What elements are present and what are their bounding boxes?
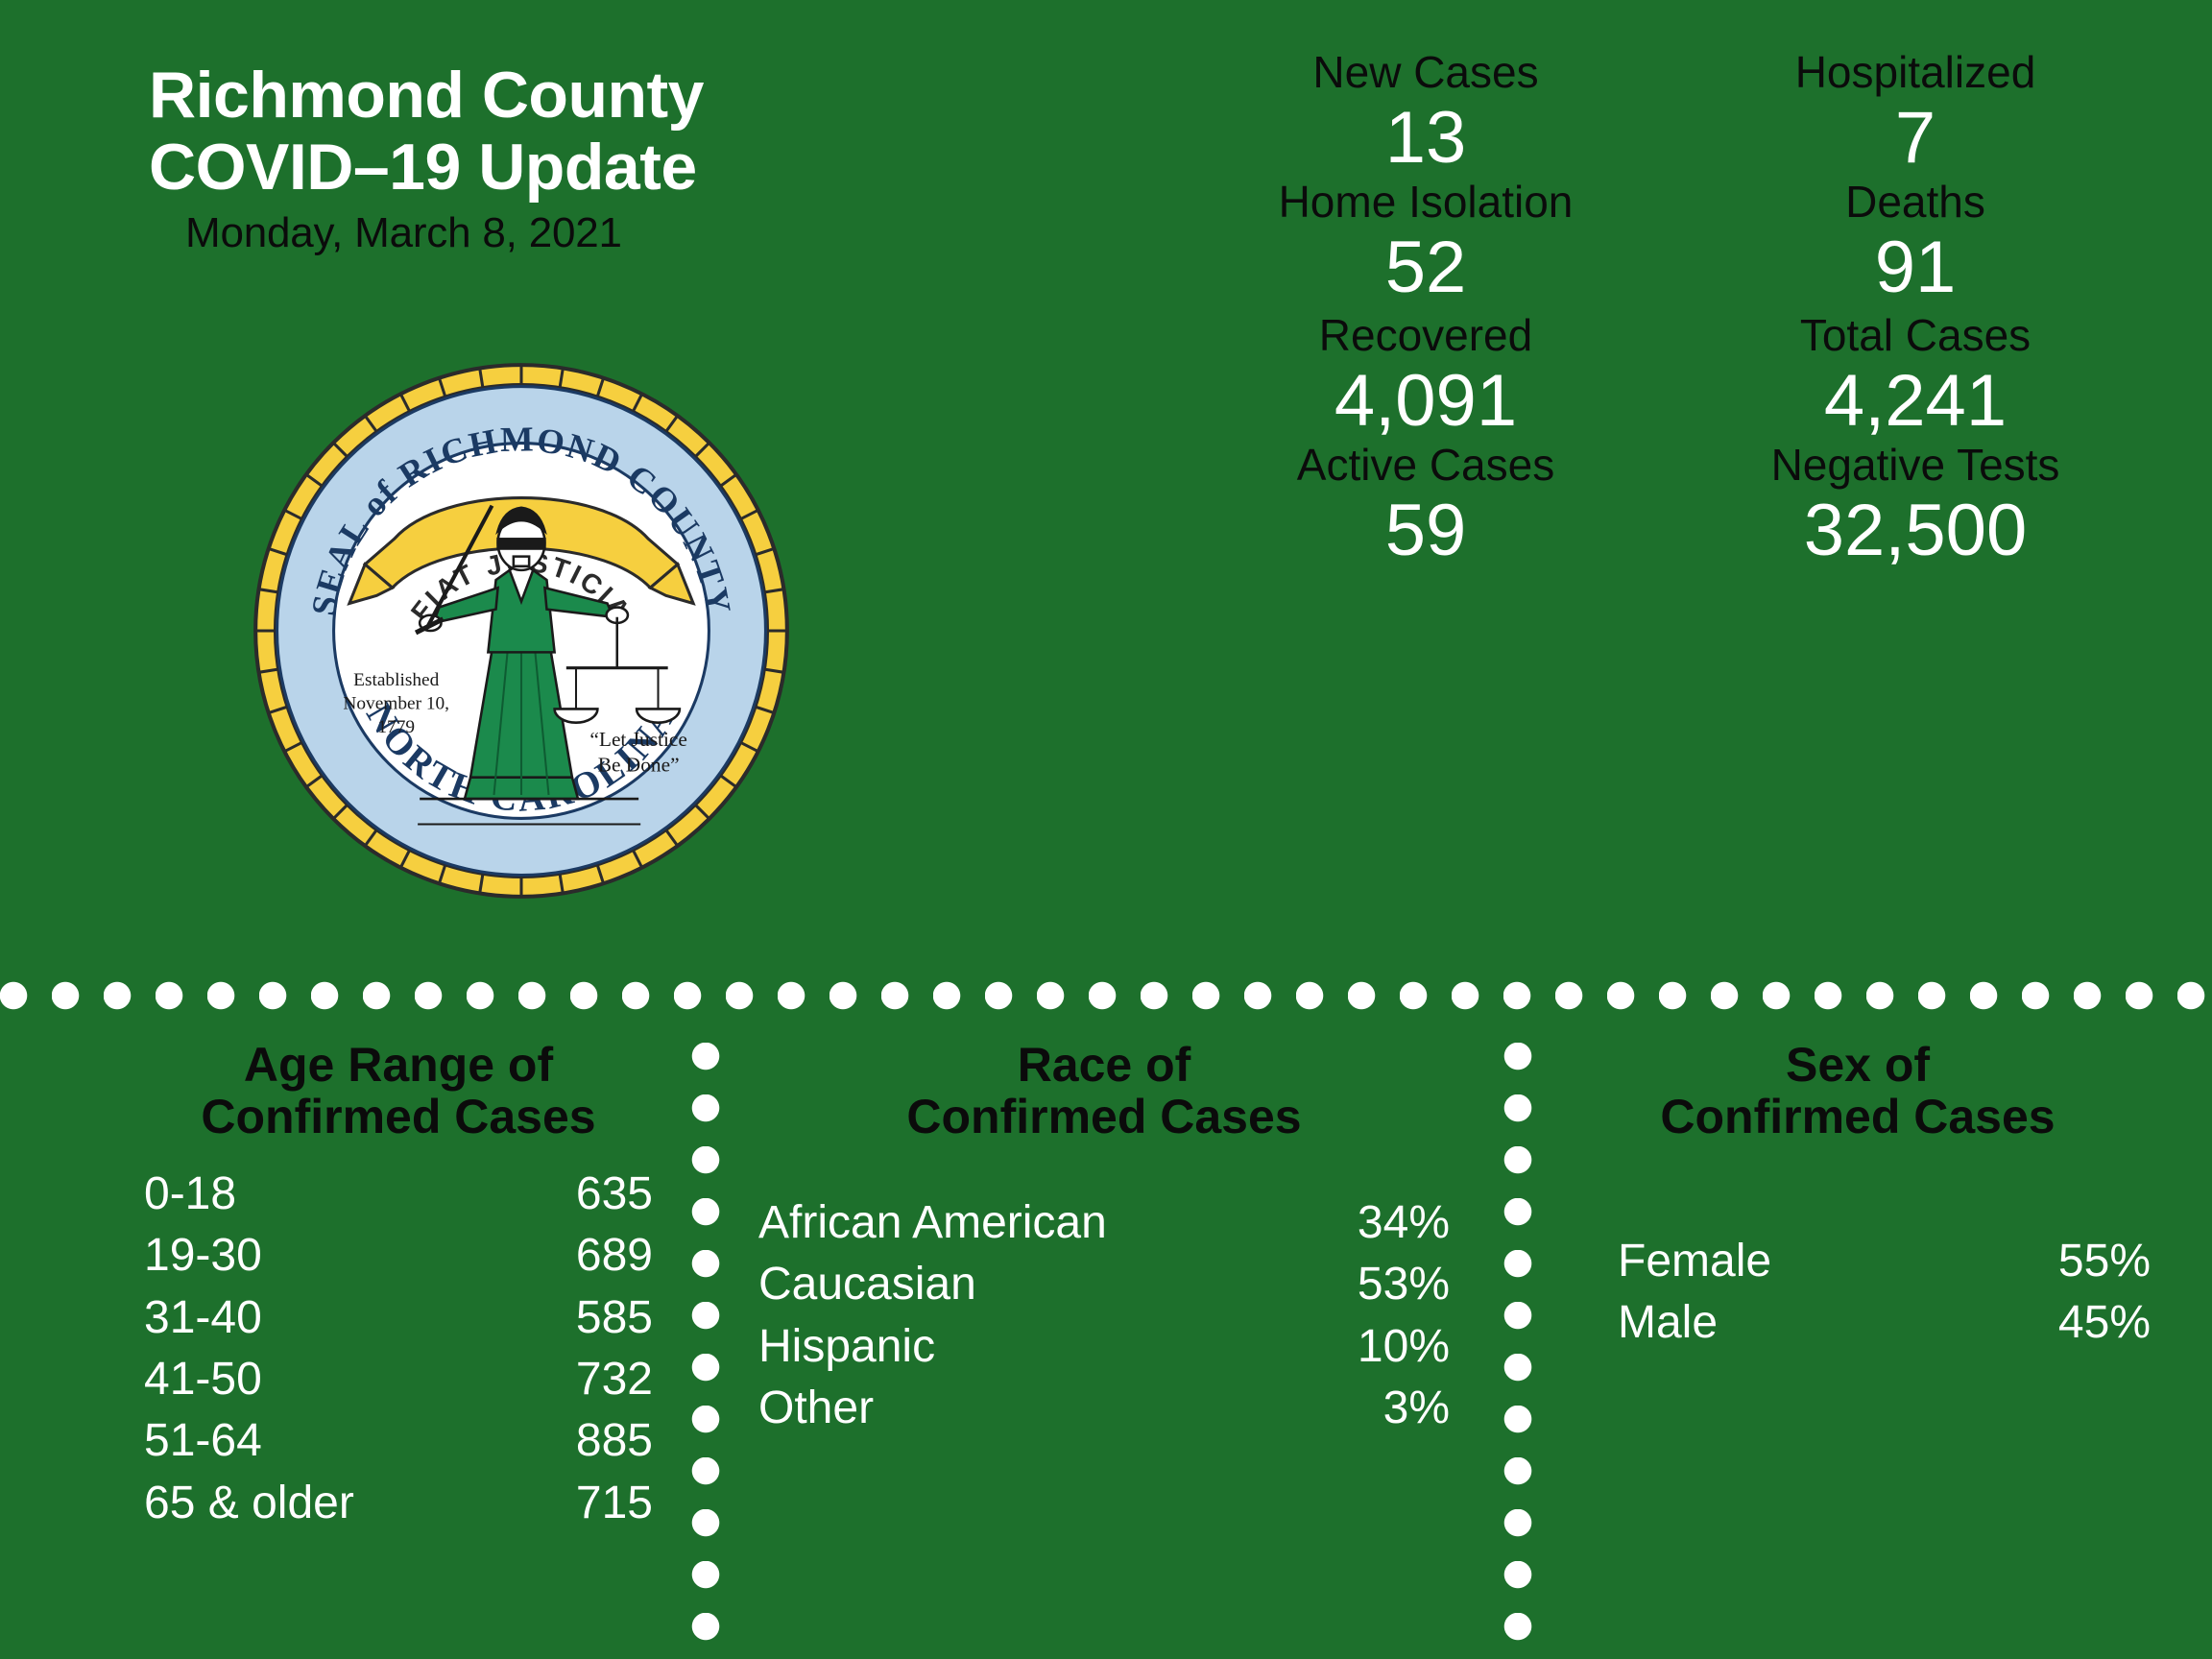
vertical-dotted-divider-right: [1503, 1043, 1532, 1659]
sex-label: Female: [1618, 1231, 1997, 1292]
summary-stats: New Cases 13 Hospitalized 7 Home Isolati…: [1181, 48, 2160, 570]
stat-label: Total Cases: [1671, 311, 2160, 361]
stat-label: Active Cases: [1181, 441, 1671, 491]
page-title-line-1: Richmond County: [149, 60, 1013, 132]
seal-established-line-3: 1779: [377, 717, 415, 737]
race-panel: Race of Confirmed Cases African American…: [758, 1039, 1450, 1439]
list-item: 51-64 885: [144, 1410, 653, 1472]
race-label: Caucasian: [758, 1254, 1306, 1315]
infographic-root: Richmond County COVID–19 Update Monday, …: [0, 0, 2212, 1659]
race-label: Hispanic: [758, 1316, 1306, 1378]
sex-label: Male: [1618, 1292, 1997, 1354]
age-range-count: 715: [509, 1473, 653, 1534]
race-label: African American: [758, 1192, 1306, 1254]
seal-established-line-1: Established: [353, 670, 439, 690]
age-range-count: 689: [509, 1225, 653, 1286]
stat-label: Negative Tests: [1671, 441, 2160, 491]
age-range-label: 51-64: [144, 1410, 509, 1472]
race-percent: 3%: [1306, 1378, 1450, 1439]
stat-negative-tests: Negative Tests 32,500: [1671, 441, 2160, 570]
stat-deaths: Deaths 91: [1671, 178, 2160, 307]
stat-row: Active Cases 59 Negative Tests 32,500: [1181, 441, 2160, 570]
age-range-label: 65 & older: [144, 1473, 509, 1534]
list-item: 0-18 635: [144, 1164, 653, 1225]
age-range-label: 31-40: [144, 1287, 509, 1349]
sex-percent: 55%: [1997, 1231, 2151, 1292]
race-label: Other: [758, 1378, 1306, 1439]
horizontal-dotted-divider: [0, 981, 2212, 1010]
race-rows: African American 34% Caucasian 53% Hispa…: [758, 1192, 1450, 1439]
richmond-county-seal: SEAL of RICHMOND COUNTY NORTH CAROLINA F…: [248, 357, 795, 904]
stat-row: Recovered 4,091 Total Cases 4,241: [1181, 311, 2160, 441]
stat-home-isolation: Home Isolation 52: [1181, 178, 1671, 307]
age-rows: 0-18 635 19-30 689 31-40 585 41-50 732 5…: [144, 1164, 653, 1534]
list-item: 41-50 732: [144, 1349, 653, 1410]
stat-value: 91: [1671, 228, 2160, 308]
race-panel-title-line-2: Confirmed Cases: [758, 1091, 1450, 1142]
stat-new-cases: New Cases 13: [1181, 48, 1671, 178]
stat-total-cases: Total Cases 4,241: [1671, 311, 2160, 441]
list-item: Female 55%: [1618, 1231, 2151, 1292]
list-item: 65 & older 715: [144, 1473, 653, 1534]
age-range-count: 585: [509, 1287, 653, 1349]
age-range-count: 732: [509, 1349, 653, 1410]
race-percent: 34%: [1306, 1192, 1450, 1254]
title-block: Richmond County COVID–19 Update Monday, …: [149, 60, 1013, 257]
stat-label: Deaths: [1671, 178, 2160, 228]
sex-panel-title-line-1: Sex of: [1565, 1039, 2151, 1091]
list-item: Male 45%: [1618, 1292, 2151, 1354]
stat-label: Recovered: [1181, 311, 1671, 361]
age-range-label: 19-30: [144, 1225, 509, 1286]
sex-panel: Sex of Confirmed Cases Female 55% Male 4…: [1565, 1039, 2151, 1355]
list-item: Other 3%: [758, 1378, 1450, 1439]
stat-value: 4,241: [1671, 361, 2160, 442]
report-date: Monday, March 8, 2021: [185, 209, 1013, 257]
sex-percent: 45%: [1997, 1292, 2151, 1354]
seal-quote-line-1: “Let Justice: [589, 728, 686, 751]
stat-value: 7: [1671, 98, 2160, 179]
vertical-dotted-divider-left: [691, 1043, 720, 1659]
stat-label: Hospitalized: [1671, 48, 2160, 98]
seal-quote-line-2: Be Done”: [598, 754, 680, 777]
age-range-label: 0-18: [144, 1164, 509, 1225]
sex-rows: Female 55% Male 45%: [1565, 1231, 2151, 1355]
age-range-count: 635: [509, 1164, 653, 1225]
stat-value: 32,500: [1671, 491, 2160, 571]
race-percent: 10%: [1306, 1316, 1450, 1378]
age-panel-title-line-1: Age Range of: [144, 1039, 653, 1091]
stat-active-cases: Active Cases 59: [1181, 441, 1671, 570]
stat-row: New Cases 13 Hospitalized 7: [1181, 48, 2160, 178]
age-range-label: 41-50: [144, 1349, 509, 1410]
stat-label: Home Isolation: [1181, 178, 1671, 228]
race-percent: 53%: [1306, 1254, 1450, 1315]
race-panel-title-line-1: Race of: [758, 1039, 1450, 1091]
stat-row: Home Isolation 52 Deaths 91: [1181, 178, 2160, 307]
age-panel-title-line-2: Confirmed Cases: [144, 1091, 653, 1142]
stat-value: 4,091: [1181, 361, 1671, 442]
page-title-line-2: COVID–19 Update: [149, 132, 1013, 204]
list-item: African American 34%: [758, 1192, 1450, 1254]
age-range-count: 885: [509, 1410, 653, 1472]
stat-value: 52: [1181, 228, 1671, 308]
sex-panel-title-line-2: Confirmed Cases: [1565, 1091, 2151, 1142]
stat-recovered: Recovered 4,091: [1181, 311, 1671, 441]
stat-value: 13: [1181, 98, 1671, 179]
stat-value: 59: [1181, 491, 1671, 571]
seal-established-line-2: November 10,: [343, 693, 449, 713]
list-item: Caucasian 53%: [758, 1254, 1450, 1315]
list-item: Hispanic 10%: [758, 1316, 1450, 1378]
list-item: 19-30 689: [144, 1225, 653, 1286]
age-panel: Age Range of Confirmed Cases 0-18 635 19…: [144, 1039, 653, 1534]
stat-label: New Cases: [1181, 48, 1671, 98]
list-item: 31-40 585: [144, 1287, 653, 1349]
stat-hospitalized: Hospitalized 7: [1671, 48, 2160, 178]
